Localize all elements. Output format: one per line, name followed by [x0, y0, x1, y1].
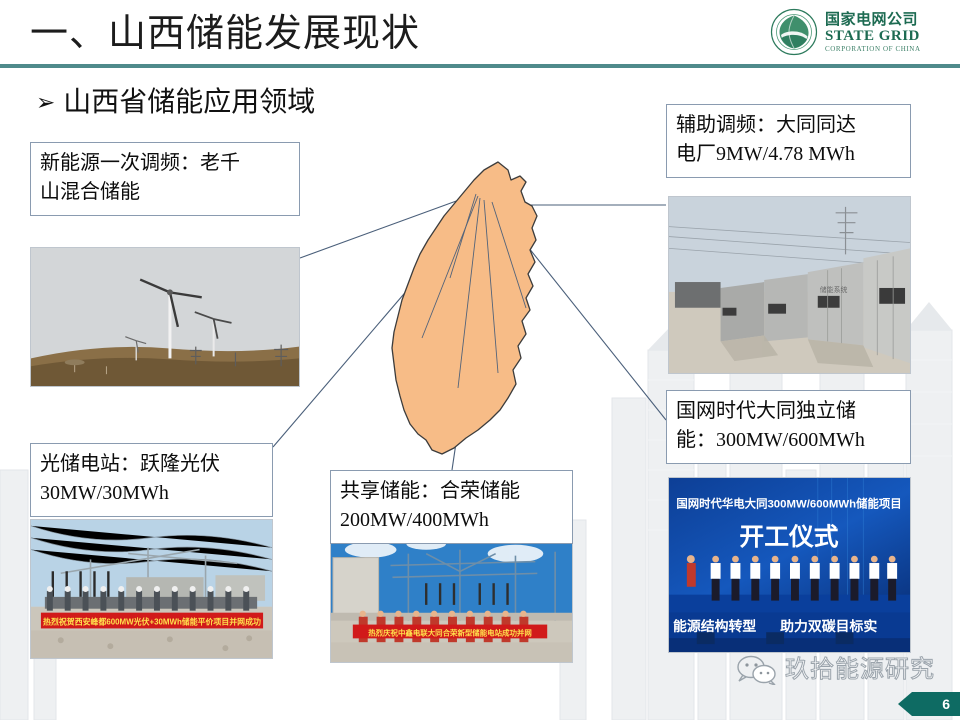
callout-line-2: 山混合储能	[40, 178, 291, 207]
photo-groundbreaking-ceremony: 国网时代华电大同300MW/600MWh储能项目 开工仪式	[668, 477, 911, 653]
callout-line-1: 共享储能：合荣储能	[340, 477, 564, 506]
bullet-arrow-icon: ➢	[36, 91, 55, 114]
header-divider	[0, 64, 960, 68]
watermark-text: 玖拾能源研究	[785, 656, 935, 684]
callout-line-2: 能：300MW/600MWh	[676, 426, 902, 455]
callout-line-1: 辅助调频：大同同达	[676, 111, 902, 140]
svg-text:助力双碳目标实: 助力双碳目标实	[780, 618, 877, 634]
photo-container-storage: 储能系统	[668, 196, 911, 374]
photo-wind-farm	[30, 247, 300, 387]
slide-root: 一、山西储能发展现状 国家电网公司 STATE GRID CORPORATION…	[0, 0, 960, 720]
callout-line-2-cn: 能：	[676, 429, 716, 451]
logo-chinese-name: 国家电网公司	[825, 12, 921, 27]
page-number: 6	[942, 696, 950, 712]
svg-text:能源结构转型: 能源结构转型	[673, 618, 756, 634]
svg-text:热烈庆祝中鑫电联大同合荣新型储能电站成功并网: 热烈庆祝中鑫电联大同合荣新型储能电站成功并网	[368, 627, 532, 637]
callout-line-1: 新能源一次调频：老千	[40, 149, 291, 178]
slide-header: 一、山西储能发展现状 国家电网公司 STATE GRID CORPORATION…	[0, 0, 960, 70]
photo-shared-storage-substation: 热烈庆祝中鑫电联大同合荣新型储能电站成功并网	[330, 531, 573, 663]
svg-text:开工仪式: 开工仪式	[739, 523, 838, 551]
svg-text:国网时代华电大同300MW/600MWh储能项目: 国网时代华电大同300MW/600MWh储能项目	[676, 497, 901, 511]
state-grid-globe-icon	[770, 8, 818, 56]
callout-line-2: 电厂9MW/4.78 MWh	[676, 140, 902, 169]
callout-line-2-value: 9MW/4.78 MWh	[716, 143, 855, 165]
callout-independent-storage[interactable]: 国网时代大同独立储 能：300MW/600MWh	[666, 390, 911, 464]
logo-english-name: STATE GRID	[825, 29, 921, 44]
wechat-icon	[735, 655, 779, 685]
logo-wordmark: 国家电网公司 STATE GRID CORPORATION OF CHINA	[825, 12, 921, 53]
svg-text:储能系统: 储能系统	[820, 285, 848, 294]
callout-shared-storage[interactable]: 共享储能：合荣储能 200MW/400MWh	[330, 470, 573, 544]
shanxi-province-map	[380, 158, 580, 488]
state-grid-logo: 国家电网公司 STATE GRID CORPORATION OF CHINA	[770, 6, 942, 58]
callout-line-2-cn: 电厂	[676, 143, 716, 165]
callout-pv-storage-station[interactable]: 光储电站：跃隆光伏 30MW/30MWh	[30, 443, 273, 517]
section-heading-label: 山西省储能应用领域	[63, 88, 315, 116]
callout-line-2-value: 300MW/600MWh	[716, 429, 865, 451]
photo-pv-station-ceremony: 热烈祝贺西安峰都600MW光伏+30MWh储能平价项目并网成功	[30, 519, 273, 659]
page-number-badge: 6	[898, 692, 960, 716]
svg-text:热烈祝贺西安峰都600MW光伏+30MWh储能平价项目并网成: 热烈祝贺西安峰都600MW光伏+30MWh储能平价项目并网成功	[43, 617, 261, 627]
callout-auxiliary-frequency[interactable]: 辅助调频：大同同达 电厂9MW/4.78 MWh	[666, 104, 911, 178]
callout-line-1: 国网时代大同独立储	[676, 397, 902, 426]
page-title: 一、山西储能发展现状	[30, 9, 420, 59]
callout-line-2-value: 30MW/30MWh	[40, 479, 264, 508]
logo-subtitle: CORPORATION OF CHINA	[825, 46, 921, 53]
wechat-watermark: 玖拾能源研究	[735, 655, 935, 685]
section-heading: ➢ 山西省储能应用领域	[36, 88, 315, 116]
callout-new-energy-primary-frequency[interactable]: 新能源一次调频：老千 山混合储能	[30, 142, 300, 216]
callout-line-2-value: 200MW/400MWh	[340, 506, 564, 535]
callout-line-1: 光储电站：跃隆光伏	[40, 450, 264, 479]
